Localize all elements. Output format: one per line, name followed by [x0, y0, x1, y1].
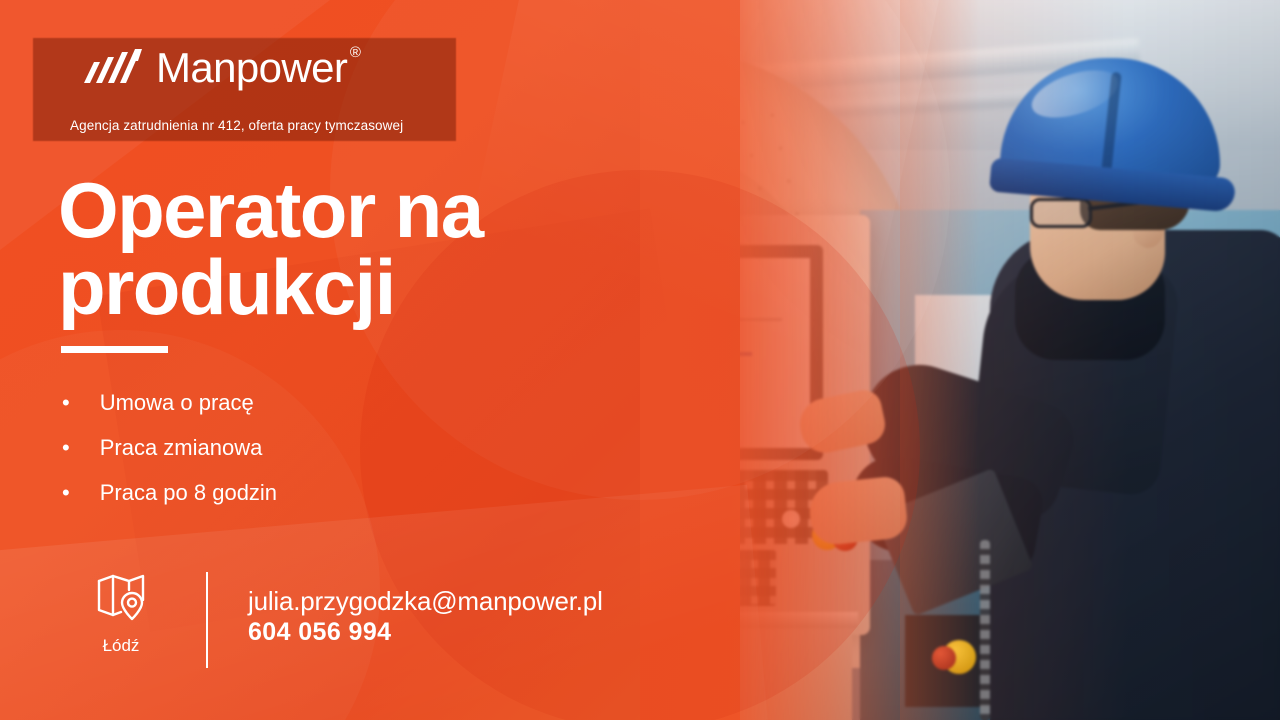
- map-pin-icon: [95, 609, 147, 626]
- list-item-label: Praca zmianowa: [100, 437, 263, 459]
- brand-name-text: Manpower: [156, 44, 347, 91]
- brand-name: Manpower ®: [156, 47, 347, 89]
- location-block: Łódź: [84, 572, 158, 656]
- location-label: Łódź: [84, 636, 158, 656]
- photo-edge-shade: [900, 0, 1280, 720]
- page-title-line-1: Operator na: [58, 172, 578, 249]
- bullet-icon: •: [62, 482, 70, 504]
- brand-logo: Manpower ®: [82, 47, 347, 89]
- registered-mark: ®: [350, 45, 360, 60]
- list-item-label: Umowa o pracę: [100, 392, 254, 414]
- contact-email[interactable]: julia.przygodzka@manpower.pl: [248, 586, 603, 617]
- job-advert-poster: Manpower ® Agencja zatrudnienia nr 412, …: [0, 0, 1280, 720]
- agency-note: Agencja zatrudnienia nr 412, oferta prac…: [70, 118, 403, 133]
- manpower-bars-icon: [82, 49, 142, 88]
- list-item-label: Praca po 8 godzin: [100, 482, 277, 504]
- page-title-line-2: produkcji: [58, 249, 578, 326]
- contact-phone[interactable]: 604 056 994: [248, 617, 603, 647]
- list-item: • Umowa o pracę: [62, 392, 482, 414]
- bullet-icon: •: [62, 392, 70, 414]
- list-item: • Praca po 8 godzin: [62, 482, 482, 504]
- list-item: • Praca zmianowa: [62, 437, 482, 459]
- contact-block: julia.przygodzka@manpower.pl 604 056 994: [248, 586, 603, 647]
- benefits-list: • Umowa o pracę • Praca zmianowa • Praca…: [62, 392, 482, 527]
- title-underline-rule: [61, 346, 168, 353]
- bullet-icon: •: [62, 437, 70, 459]
- page-title: Operator na produkcji: [58, 172, 578, 326]
- footer-divider: [206, 572, 208, 668]
